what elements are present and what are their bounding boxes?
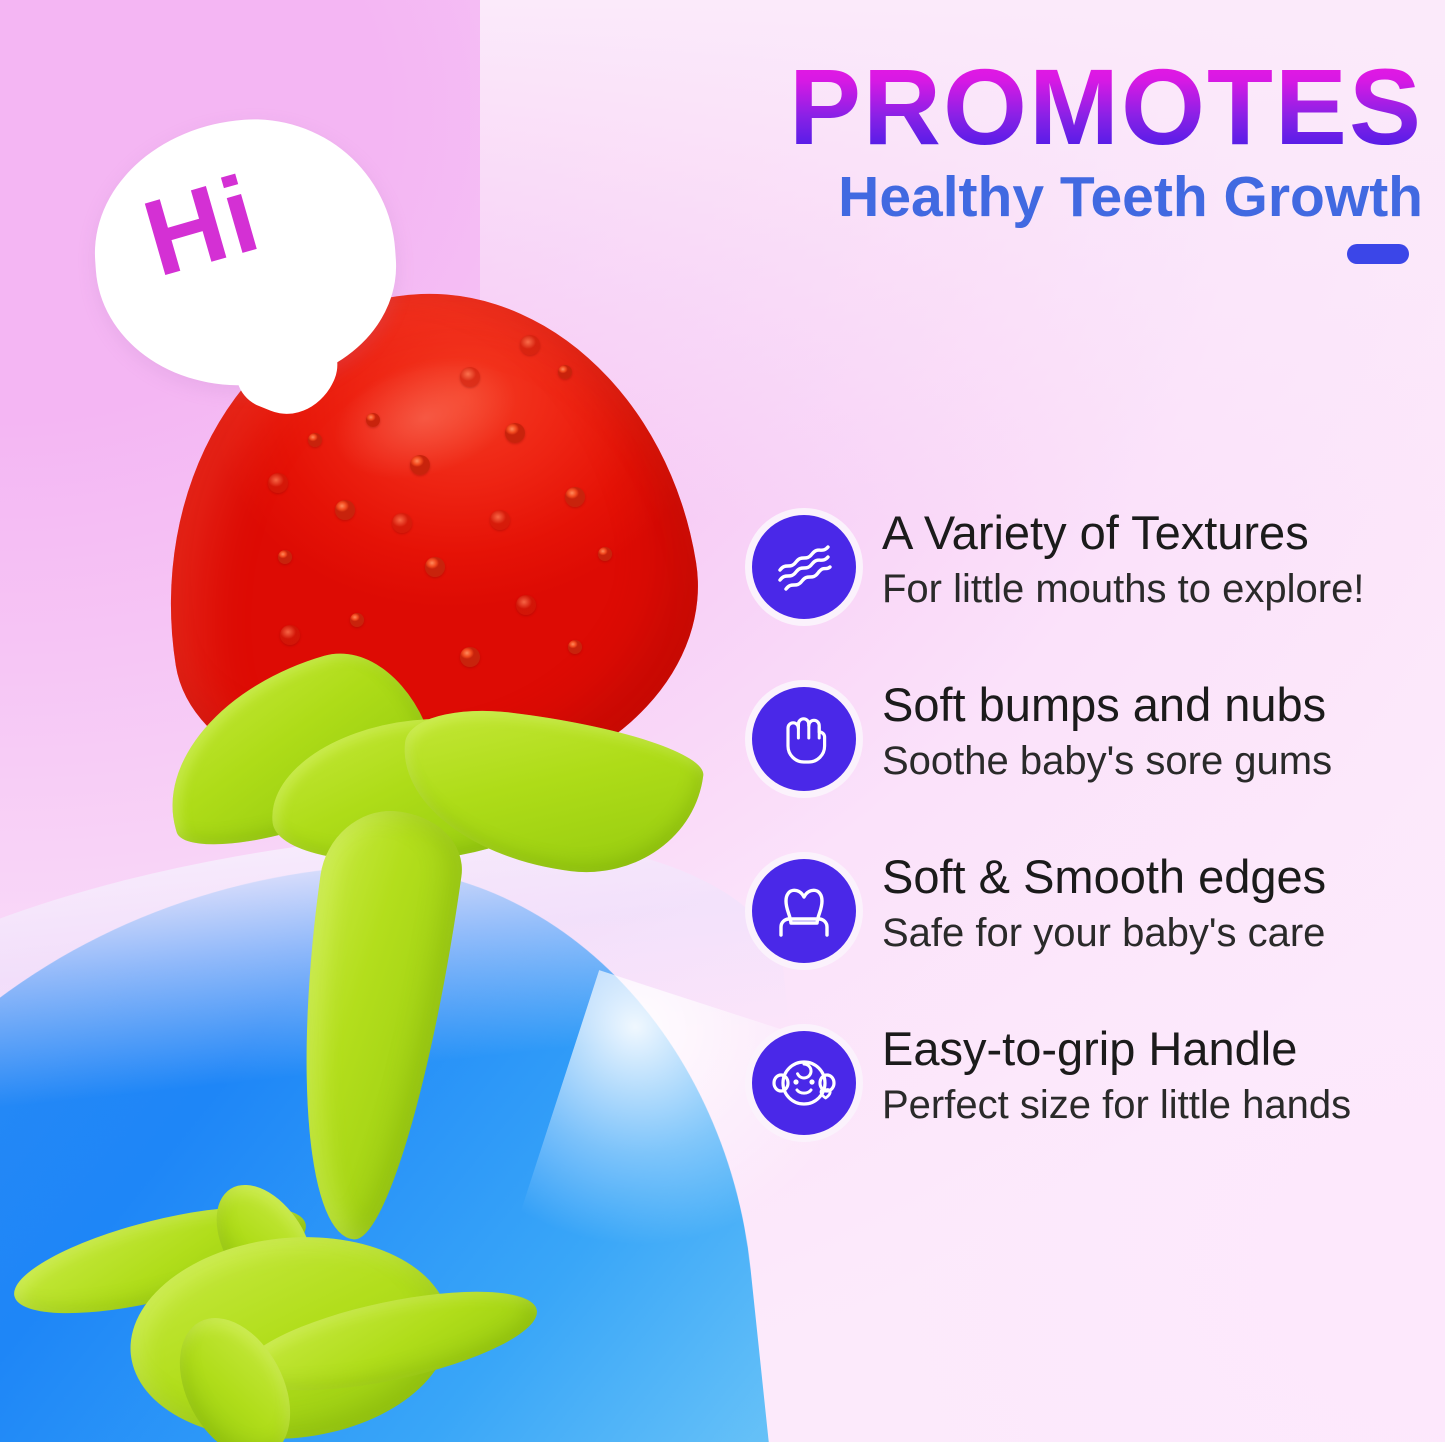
infographic-canvas: Hi PROMOTES Healthy Teeth Growth A Varie… [0,0,1445,1442]
feature-list: A Variety of Textures For little mouths … [752,505,1442,1135]
feature-text: A Variety of Textures For little mouths … [882,505,1364,613]
feature-title: Easy-to-grip Handle [882,1023,1351,1076]
strawberry-seed [335,500,355,520]
feature-subtitle: For little mouths to explore! [882,566,1364,613]
strawberry-seed [520,335,540,355]
strawberry-seed [308,433,322,447]
strawberry-seed [280,625,300,645]
feature-item: Soft bumps and nubs Soothe baby's sore g… [752,677,1442,791]
strawberry-seed [598,547,612,561]
feature-item: A Variety of Textures For little mouths … [752,505,1442,619]
feature-item: Easy-to-grip Handle Perfect size for lit… [752,1021,1442,1135]
strawberry-seed [505,423,525,443]
strawberry-stem-and-leaves [150,660,680,1220]
strawberry-seed [460,367,480,387]
strawberry-seed [425,557,445,577]
hand-icon [752,687,856,791]
header: PROMOTES Healthy Teeth Growth [583,52,1423,269]
teether-handle [270,807,470,1244]
strawberry-seed [392,513,412,533]
feature-title: Soft bumps and nubs [882,679,1332,732]
strawberry-seed [366,413,380,427]
strawberry-seed [565,487,585,507]
feature-text: Soft bumps and nubs Soothe baby's sore g… [882,677,1332,785]
feature-title: Soft & Smooth edges [882,851,1326,904]
feature-subtitle: Soothe baby's sore gums [882,738,1332,785]
product-image-strawberry-teether [0,260,720,1442]
strawberry-seed [278,550,292,564]
teether-base [10,1190,530,1440]
feature-subtitle: Safe for your baby's care [882,910,1326,957]
feature-text: Easy-to-grip Handle Perfect size for lit… [882,1021,1351,1129]
strawberry-seed [516,595,536,615]
strawberry-seed [490,510,510,530]
baby-face-icon [752,1031,856,1135]
feature-title: A Variety of Textures [882,507,1364,560]
strawberry-seed [558,365,572,379]
feature-item: Soft & Smooth edges Safe for your baby's… [752,849,1442,963]
page-subtitle: Healthy Teeth Growth [583,168,1423,228]
strawberry-seed [410,455,430,475]
tooth-icon [752,859,856,963]
feature-text: Soft & Smooth edges Safe for your baby's… [882,849,1326,957]
wavy-texture-icon [752,515,856,619]
accent-dash [1347,244,1409,264]
strawberry-seed [568,640,582,654]
page-title: PROMOTES [583,52,1423,162]
strawberry-seed [268,473,288,493]
strawberry-seed [350,613,364,627]
feature-subtitle: Perfect size for little hands [882,1082,1351,1129]
